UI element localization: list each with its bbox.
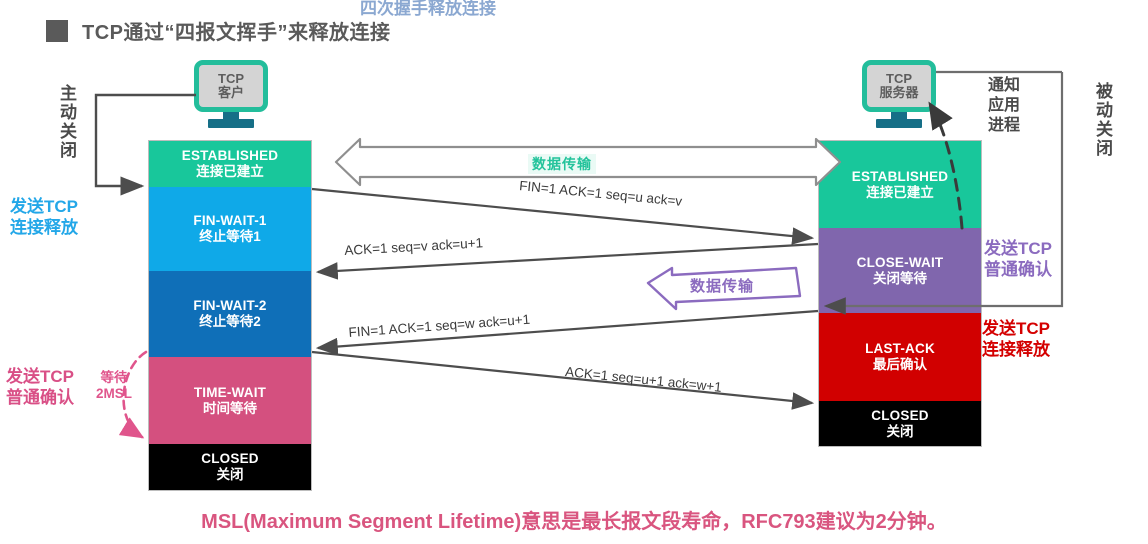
footer-caption: MSL(Maximum Segment Lifetime)意思是最长报文段寿命，… [0, 505, 1148, 534]
data-transfer-top-label: 数据传输 [528, 154, 596, 174]
data-transfer-mid-label: 数据传输 [690, 275, 754, 296]
diagram-connectors [0, 0, 1148, 544]
tcp-four-way-handshake-diagram: 四次握手释放连接 TCP通过“四报文挥手”来释放连接 TCP 客户 TCP 服务… [0, 0, 1148, 544]
